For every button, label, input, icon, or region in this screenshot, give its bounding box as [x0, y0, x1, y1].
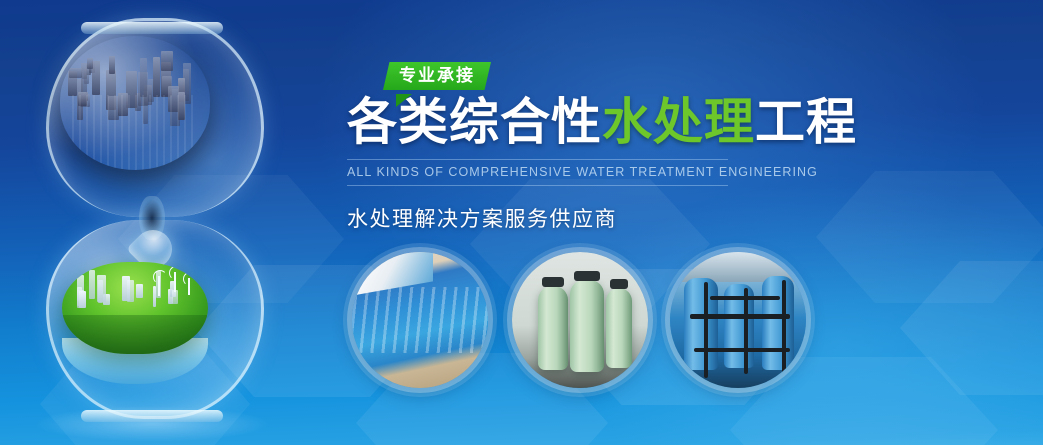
frp-filter-photo-image: [512, 252, 648, 388]
frp-tank-valve-1: [574, 271, 600, 281]
frp-tank-0: [538, 286, 568, 370]
blue-tank-photo-image: [670, 252, 806, 388]
grey-building-28: [69, 68, 82, 78]
hourglass-bottom-cap: [81, 410, 223, 422]
english-subtitle: ALL KINDS OF COMPREHENSIVE WATER TREATME…: [347, 165, 728, 179]
frp-tank-valve-0: [542, 277, 564, 287]
wind-turbine-0: [158, 276, 160, 296]
banner-copy-block: 专业承接 各类综合性水处理工程 ALL KINDS OF COMPREHENSI…: [347, 62, 907, 233]
hourglass-eco-illustration: [28, 8, 278, 438]
pipe-2: [782, 280, 786, 378]
green-eco-city-island: [62, 262, 208, 354]
headline-segment-1: 各类综合性: [347, 94, 602, 150]
grey-building-25: [153, 57, 160, 97]
grey-building-17: [178, 78, 185, 102]
badge-tail-shape: [396, 94, 412, 107]
frp-tank-valve-2: [610, 279, 628, 289]
grey-building-13: [92, 61, 100, 95]
grey-building-4: [170, 89, 179, 126]
grey-building-22: [118, 93, 128, 116]
eco-building-14: [97, 275, 106, 302]
headline-segment-2-green: 水处理: [602, 94, 755, 150]
grey-building-24: [87, 58, 93, 69]
grey-building-32: [140, 58, 147, 96]
grey-building-18: [168, 86, 179, 112]
frp-tank-1: [570, 280, 604, 372]
grey-building-26: [161, 51, 173, 71]
grey-building-33: [78, 92, 86, 106]
english-subtitle-rules: ALL KINDS OF COMPREHENSIVE WATER TREATME…: [347, 159, 728, 186]
blue-tank-2: [762, 276, 794, 370]
circle-photo-frp-filters[interactable]: [512, 252, 648, 388]
grey-building-7: [135, 93, 141, 111]
grey-building-20: [126, 71, 136, 108]
pipe-0: [704, 282, 708, 378]
grey-building-14: [108, 96, 119, 120]
hourglass-top-cap: [81, 22, 223, 34]
pipe-3: [690, 314, 790, 319]
wind-turbine-1: [174, 272, 176, 292]
grey-building-6: [106, 70, 116, 110]
product-photo-circles: [352, 252, 812, 392]
eco-building-6: [127, 280, 134, 303]
pipe-5: [710, 296, 780, 300]
pipe-1: [744, 288, 748, 374]
circle-photo-blue-tanks[interactable]: [670, 252, 806, 388]
polluted-grey-city: [60, 36, 210, 170]
blue-tank-0: [684, 278, 718, 370]
eco-building-15: [89, 270, 95, 299]
headline-segment-3: 工程: [755, 94, 857, 150]
grey-building-30: [80, 94, 90, 107]
grey-building-29: [143, 91, 148, 124]
eco-building-10: [136, 284, 143, 298]
grey-building-8: [109, 56, 115, 74]
water-treatment-hero-banner: 专业承接 各类综合性水处理工程 ALL KINDS OF COMPREHENSI…: [0, 0, 1043, 445]
pipe-4: [694, 348, 790, 352]
pool-photo-image: [352, 252, 488, 388]
grey-building-19: [178, 92, 184, 121]
wind-turbine-2: [188, 278, 190, 295]
frp-tank-2: [606, 288, 632, 368]
page-title: 各类综合性水处理工程: [347, 96, 907, 149]
chinese-tagline: 水处理解决方案服务供应商: [347, 203, 907, 233]
badge-professional-undertaking: 专业承接: [383, 62, 491, 90]
hexagon-shape-5: [900, 261, 1043, 395]
eco-building-9: [79, 291, 86, 308]
circle-photo-pool[interactable]: [352, 252, 488, 388]
